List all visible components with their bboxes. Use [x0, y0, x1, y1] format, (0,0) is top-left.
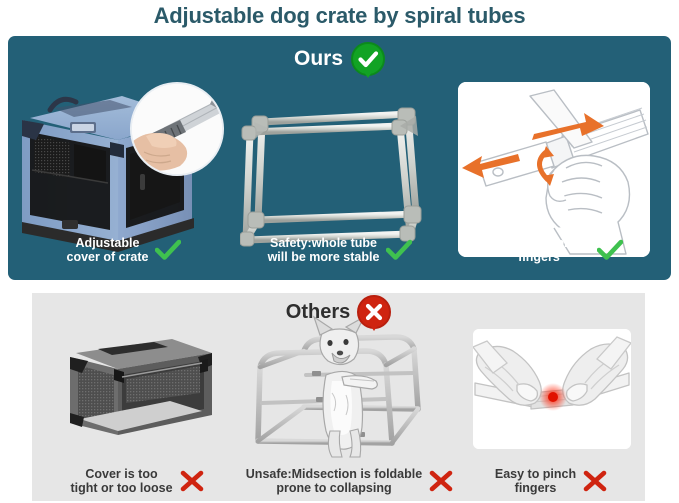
hands-twisting-spiral-tube-diagram	[458, 82, 650, 257]
others-caption-1: Cover is too tight or too loose	[32, 467, 242, 495]
cross-icon	[429, 470, 453, 492]
check-icon	[386, 239, 412, 261]
red-cross-pin-icon	[357, 295, 391, 329]
hands-pinched-by-tube-diagram	[473, 329, 631, 449]
ours-caption-3: Safe not to pinch fingers	[440, 236, 671, 264]
caption-text: Easy to pinch fingers	[495, 467, 576, 495]
caption-text: Unsafe:Midsection is foldable prone to c…	[246, 467, 422, 495]
others-header: Others	[32, 295, 645, 329]
infographic-page: Adjustable dog crate by spiral tubes Our…	[0, 0, 679, 503]
hand-holding-spiral-tube-inset	[131, 83, 228, 175]
others-label: Others	[286, 301, 350, 324]
cross-icon	[583, 470, 607, 492]
page-title: Adjustable dog crate by spiral tubes	[0, 3, 679, 29]
check-icon	[155, 239, 181, 261]
caption-text: Safety:whole tube will be more stable	[268, 236, 380, 264]
one-piece-tube-frame-illustration	[240, 92, 440, 257]
others-caption-3: Easy to pinch fingers	[457, 467, 645, 495]
ours-caption-1: Adjustable cover of crate	[8, 236, 240, 264]
dog-leaning-on-collapsing-frame-illustration	[246, 315, 454, 463]
caption-text: Adjustable cover of crate	[67, 236, 149, 264]
green-check-pin-icon	[351, 42, 385, 76]
check-icon	[597, 239, 623, 261]
ours-panel: Ours	[8, 36, 671, 280]
grayscale-competitor-crate-photo	[52, 331, 224, 449]
others-caption-2: Unsafe:Midsection is foldable prone to c…	[242, 467, 457, 495]
blue-soft-dog-crate-photo	[14, 82, 236, 257]
ours-label: Ours	[294, 47, 343, 71]
caption-text: Cover is too tight or too loose	[70, 467, 172, 495]
others-panel: Others	[32, 293, 645, 501]
caption-text: Safe not to pinch fingers	[488, 236, 589, 264]
cross-icon	[180, 470, 204, 492]
ours-caption-2: Safety:whole tube will be more stable	[240, 236, 440, 264]
ours-header: Ours	[8, 42, 671, 76]
